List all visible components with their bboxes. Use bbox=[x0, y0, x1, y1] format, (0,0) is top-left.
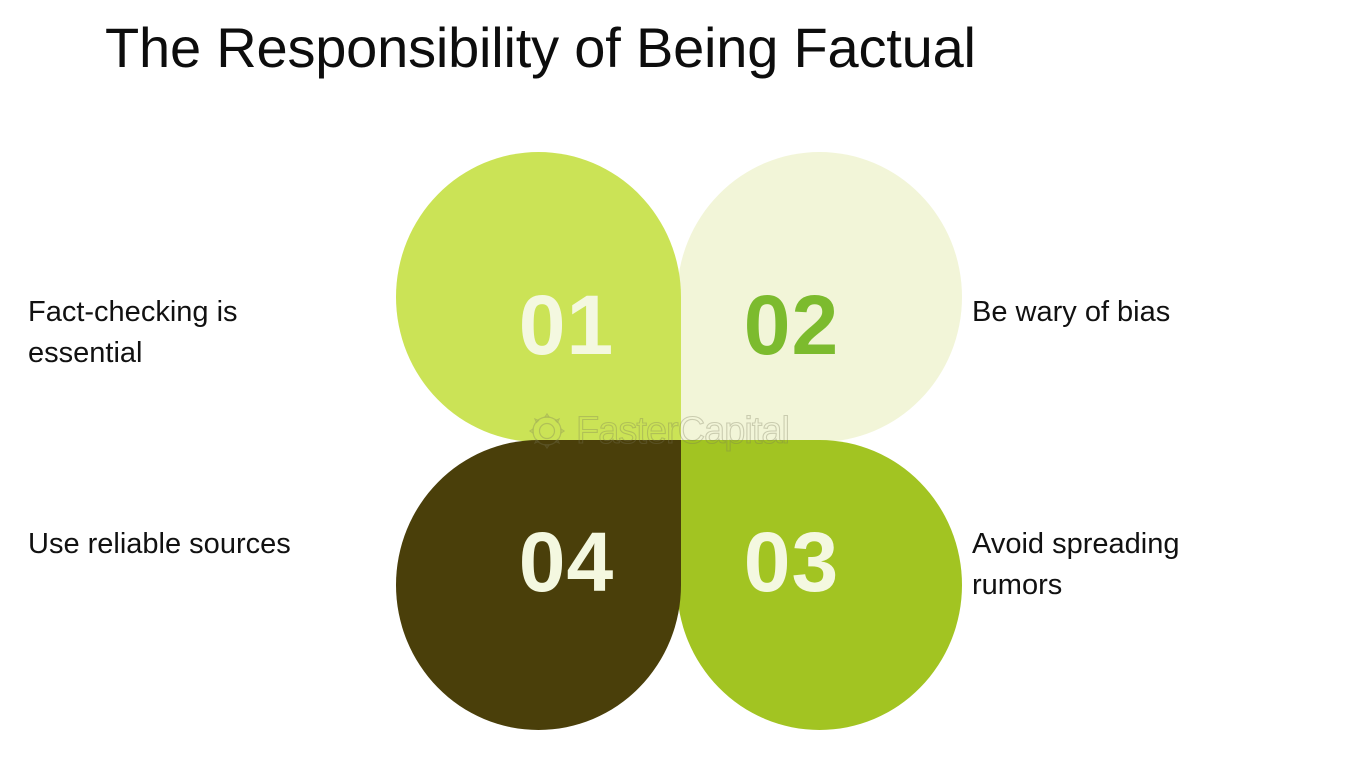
petal-02[interactable]: 02 bbox=[677, 152, 962, 442]
flower-diagram: 01 02 03 04 bbox=[396, 152, 958, 730]
petal-label-02-line1: Be wary of bias bbox=[972, 292, 1302, 333]
petal-label-03-line2: rumors bbox=[972, 565, 1292, 606]
petal-number-02: 02 bbox=[744, 283, 839, 367]
petal-label-01-line2: essential bbox=[28, 333, 358, 374]
petal-label-03-line1: Avoid spreading bbox=[972, 524, 1292, 565]
petal-03[interactable]: 03 bbox=[677, 440, 962, 730]
petal-01[interactable]: 01 bbox=[396, 152, 681, 442]
petal-number-04: 04 bbox=[519, 520, 614, 604]
petal-label-04: Use reliable sources bbox=[28, 524, 368, 565]
petal-label-03: Avoid spreading rumors bbox=[972, 524, 1292, 606]
petal-label-01: Fact-checking is essential bbox=[28, 292, 358, 374]
petal-04[interactable]: 04 bbox=[396, 440, 681, 730]
petal-label-04-line1: Use reliable sources bbox=[28, 524, 368, 565]
petal-number-03: 03 bbox=[744, 520, 839, 604]
slide-canvas: The Responsibility of Being Factual Fact… bbox=[0, 0, 1350, 759]
petal-number-01: 01 bbox=[519, 283, 614, 367]
page-title: The Responsibility of Being Factual bbox=[105, 16, 976, 80]
petal-label-02: Be wary of bias bbox=[972, 292, 1302, 333]
petal-label-01-line1: Fact-checking is bbox=[28, 292, 358, 333]
